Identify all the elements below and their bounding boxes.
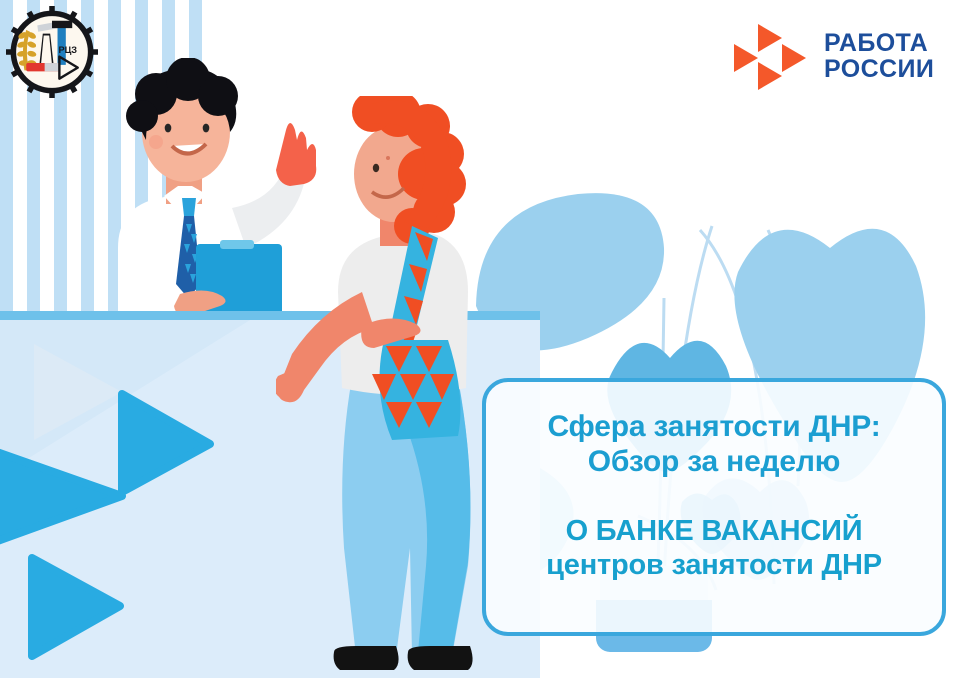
headline-card: Сфера занятости ДНР: Обзор за неделю О Б…	[482, 378, 946, 636]
logo-line-1: РАБОТА	[824, 30, 934, 57]
card-subtitle: О БАНКЕ ВАКАНСИЙ центров занятости ДНР	[546, 514, 882, 582]
logo-triangles-icon	[732, 22, 810, 90]
infographic-canvas: Сфера занятости ДНР: Обзор за неделю О Б…	[0, 0, 960, 678]
emblem-abbr-text: РЦЗ	[58, 45, 77, 55]
rabota-rossii-logo: РАБОТА РОССИИ	[732, 22, 934, 90]
logo-line-2: РОССИИ	[824, 56, 934, 83]
rcz-emblem-icon: РЦЗ	[6, 6, 98, 98]
decorative-triangles	[0, 330, 254, 678]
card-title: Сфера занятости ДНР: Обзор за неделю	[547, 410, 880, 480]
logo-wordmark: РАБОТА РОССИИ	[824, 30, 934, 83]
